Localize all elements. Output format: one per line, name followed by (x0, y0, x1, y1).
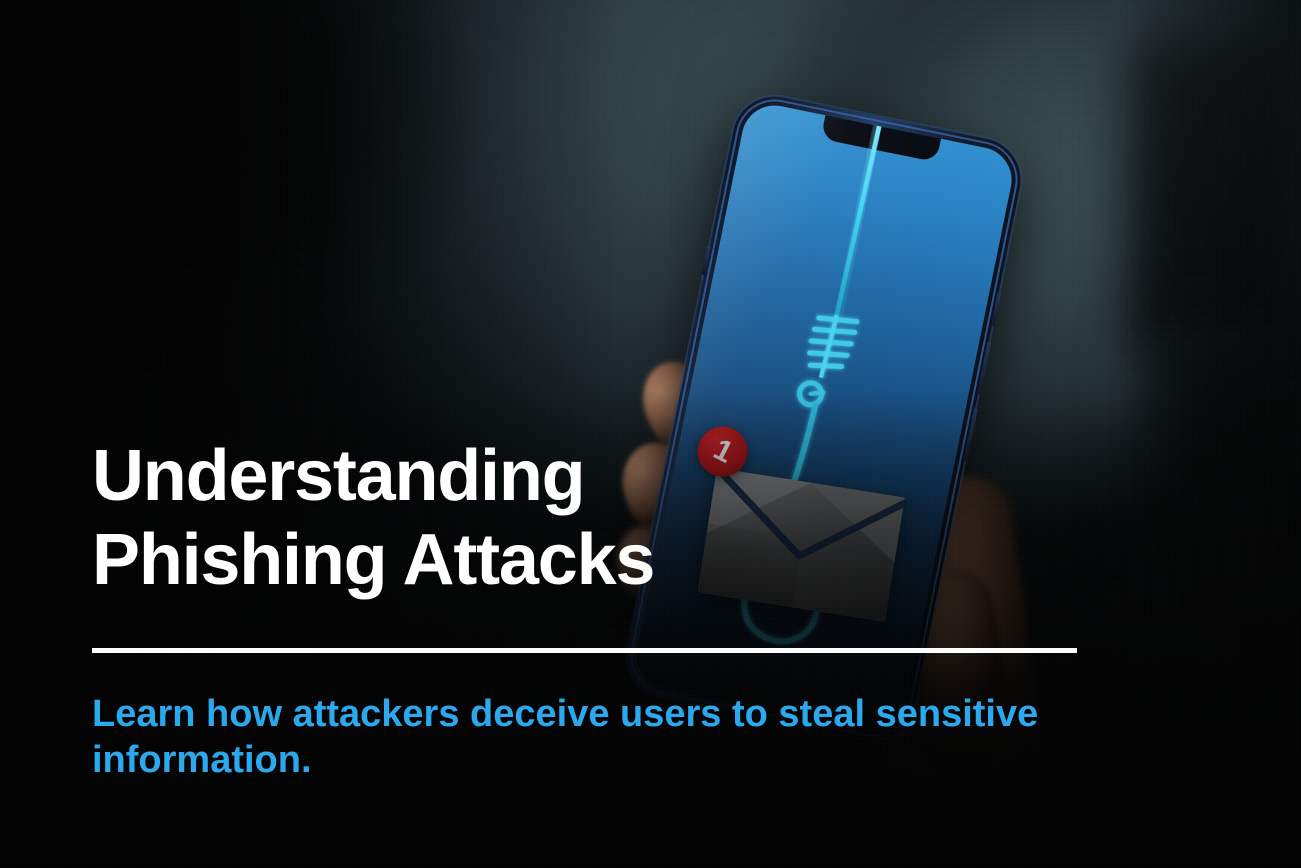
page-title: Understanding Phishing Attacks (92, 440, 1092, 596)
page-title-line-1: Understanding (92, 436, 584, 516)
banner-canvas: 1 Understanding Phishing Attacks Learn h… (0, 0, 1301, 868)
page-title-line-2: Phishing Attacks (92, 524, 1092, 596)
page-subtitle: Learn how attackers deceive users to ste… (92, 691, 1052, 784)
text-content: Understanding Phishing Attacks Learn how… (92, 440, 1092, 784)
title-divider (92, 648, 1077, 653)
